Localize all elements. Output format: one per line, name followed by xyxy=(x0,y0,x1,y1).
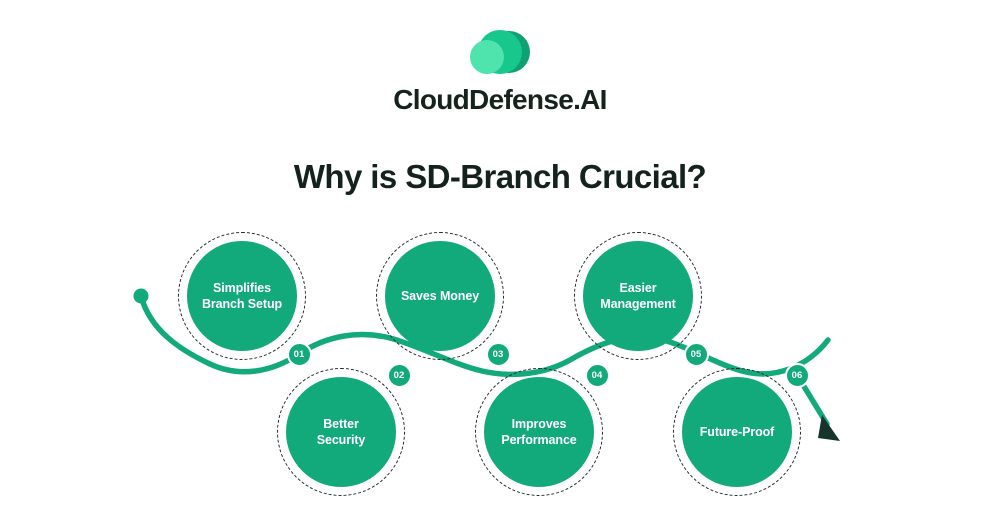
benefit-node-01[interactable]: Simplifies Branch Setup xyxy=(187,241,297,351)
benefit-disc[interactable]: Better Security xyxy=(286,377,396,487)
benefit-node-02[interactable]: Better Security xyxy=(286,377,396,487)
benefit-disc[interactable]: Easier Management xyxy=(583,241,693,351)
infographic-canvas: CloudDefense.AI Why is SD-Branch Crucial… xyxy=(0,0,1000,530)
benefit-disc[interactable]: Simplifies Branch Setup xyxy=(187,241,297,351)
benefit-label: Improves Performance xyxy=(495,416,582,448)
benefit-label: Better Security xyxy=(311,416,372,448)
benefit-label: Easier Management xyxy=(594,280,681,312)
step-badge-label: 06 xyxy=(792,370,803,381)
step-badge-label: 04 xyxy=(592,370,603,381)
step-badge-label: 05 xyxy=(691,349,702,360)
benefit-node-05[interactable]: Easier Management xyxy=(583,241,693,351)
sd-branch-benefits-diagram: Simplifies Branch Setup01Better Security… xyxy=(0,0,1000,530)
benefit-node-04[interactable]: Improves Performance xyxy=(484,377,594,487)
benefit-disc[interactable]: Improves Performance xyxy=(484,377,594,487)
step-badge-05[interactable]: 05 xyxy=(684,342,709,367)
step-badge-01[interactable]: 01 xyxy=(287,342,312,367)
step-badge-04[interactable]: 04 xyxy=(585,363,610,388)
benefit-label: Future-Proof xyxy=(694,424,780,440)
step-badge-02[interactable]: 02 xyxy=(387,363,412,388)
benefit-label: Saves Money xyxy=(395,288,485,304)
benefit-node-06[interactable]: Future-Proof xyxy=(682,377,792,487)
benefit-disc[interactable]: Saves Money xyxy=(385,241,495,351)
step-badge-03[interactable]: 03 xyxy=(486,342,511,367)
benefit-label: Simplifies Branch Setup xyxy=(196,280,288,312)
step-badge-label: 02 xyxy=(394,370,405,381)
step-badge-label: 03 xyxy=(493,349,504,360)
step-badge-06[interactable]: 06 xyxy=(785,363,810,388)
step-badge-label: 01 xyxy=(294,349,305,360)
benefit-node-03[interactable]: Saves Money xyxy=(385,241,495,351)
benefit-disc[interactable]: Future-Proof xyxy=(682,377,792,487)
